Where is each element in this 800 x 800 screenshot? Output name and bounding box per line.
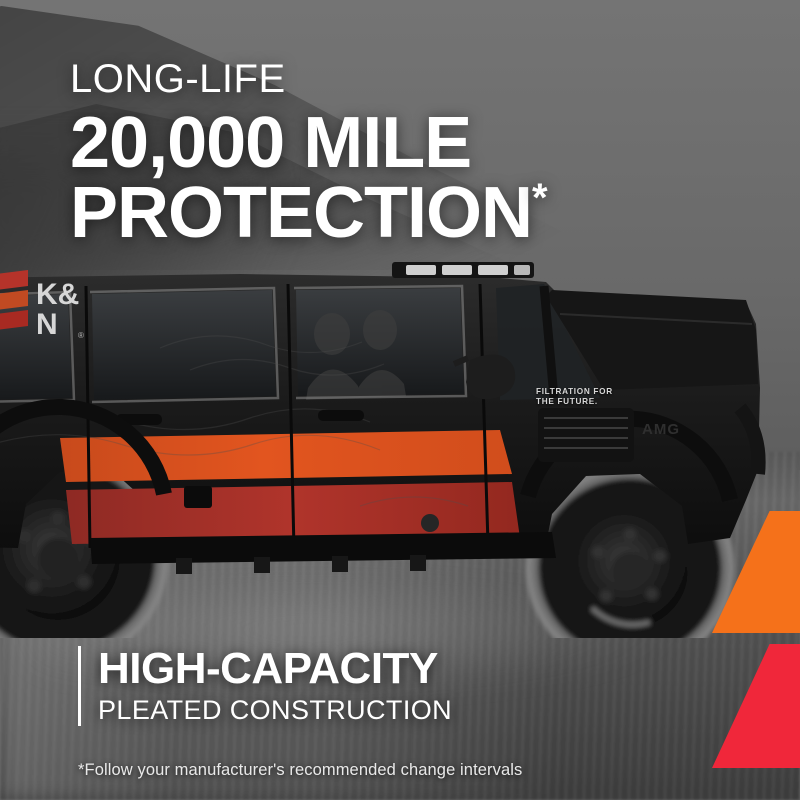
headline-eyebrow: LONG-LIFE	[70, 56, 690, 102]
fender-vent	[538, 408, 634, 462]
kn-logo-text-k: K&	[36, 278, 79, 311]
headline-line-1: 20,000 MILE	[70, 108, 690, 178]
vehicle-tagline-decal: FILTRATION FOR THE FUTURE.	[536, 387, 613, 407]
subhead-line-2: PLEATED CONSTRUCTION	[98, 694, 452, 726]
svg-text:®: ®	[78, 331, 84, 340]
subhead-texts: HIGH-CAPACITY PLEATED CONSTRUCTION	[98, 646, 452, 726]
svg-text:AMG: AMG	[642, 421, 680, 438]
headline-line-2: PROTECTION*	[70, 178, 690, 248]
headline-block: LONG-LIFE 20,000 MILE PROTECTION*	[70, 56, 690, 248]
vehicle-tagline-line2: THE FUTURE.	[536, 397, 613, 407]
vertical-divider-rule	[78, 646, 81, 726]
advertisement-canvas: AMG K& N ® FILTRATION FOR THE FUTURE. LO…	[0, 0, 800, 800]
kn-logo-text-n: N	[36, 308, 58, 341]
subhead-block: HIGH-CAPACITY PLEATED CONSTRUCTION	[78, 646, 452, 726]
vehicle-tagline-line1: FILTRATION FOR	[536, 387, 613, 397]
kn-stripes	[0, 270, 28, 334]
kn-logo-decal: K& N ®	[0, 264, 122, 348]
subhead-line-1: HIGH-CAPACITY	[98, 646, 452, 692]
footnote-disclaimer: *Follow your manufacturer's recommended …	[78, 760, 522, 780]
headline-asterisk: *	[532, 176, 547, 220]
headline-line-2-text: PROTECTION	[70, 173, 532, 253]
door-badge	[421, 514, 439, 532]
